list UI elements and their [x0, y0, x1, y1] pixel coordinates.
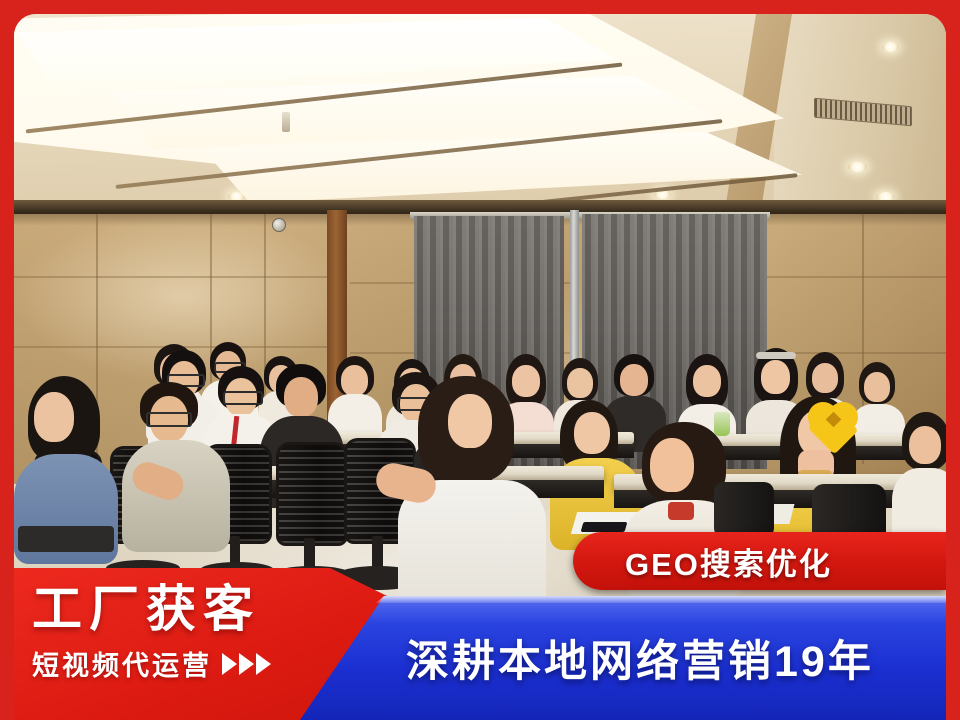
office-chair	[276, 442, 348, 546]
phone	[581, 522, 628, 532]
geo-badge-text: GEO搜索优化	[625, 539, 832, 584]
drink-cup	[714, 412, 730, 436]
security-camera-icon	[272, 218, 286, 232]
frame-border-right	[946, 0, 960, 720]
chevron-right-triple-icon	[222, 653, 271, 675]
ceiling-sensor-icon	[282, 112, 290, 132]
arrow-right-icon	[256, 653, 271, 675]
wall-panel-seam	[14, 276, 332, 278]
red-banner-subtitle-row: 短视频代运营	[32, 644, 362, 683]
screenshot-root: GEO搜索优化 工厂获客 短视频代运营 深耕本地网络营销19年	[0, 0, 960, 720]
office-chair	[714, 482, 774, 538]
red-banner-content: 工厂获客 短视频代运营	[32, 582, 362, 683]
red-banner-subtitle: 短视频代运营	[32, 644, 212, 683]
frame-border-left	[0, 0, 14, 720]
frame-border-top	[0, 0, 960, 14]
arrow-right-icon	[239, 653, 254, 675]
blue-banner-highlight	[300, 596, 960, 603]
geo-badge[interactable]: GEO搜索优化	[573, 532, 946, 590]
arrow-right-icon	[222, 653, 237, 675]
red-banner-title: 工厂获客	[32, 582, 362, 636]
ceiling-downlight-icon	[848, 162, 867, 172]
ceiling-downlight-icon	[882, 42, 899, 52]
blue-banner-text: 深耕本地网络营销19年	[406, 627, 874, 689]
blue-banner[interactable]: 深耕本地网络营销19年	[300, 596, 960, 720]
wall-panel-seam	[766, 276, 946, 278]
heart-fan-icon	[808, 402, 860, 448]
